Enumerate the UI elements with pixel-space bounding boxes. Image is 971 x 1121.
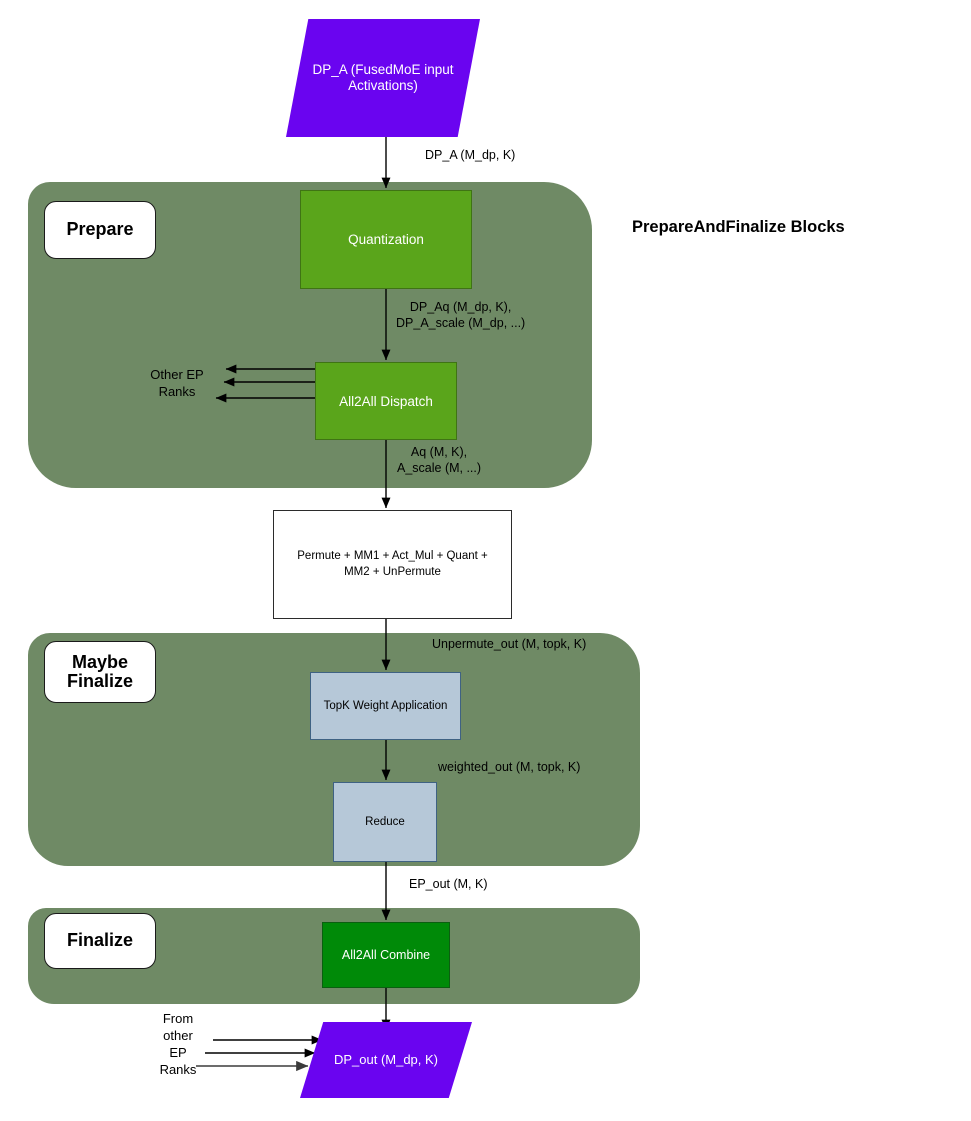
- side-label-from-other-ep-ranks: From other EP Ranks: [146, 1010, 210, 1079]
- node-expert-compute-label: Permute + MM1 + Act_Mul + Quant + MM2 + …: [297, 549, 487, 580]
- node-topk-weight-application: TopK Weight Application: [310, 672, 461, 740]
- node-quantization-label: Quantization: [348, 232, 424, 247]
- output-parallelogram-dp-out: DP_out (M_dp, K): [300, 1022, 472, 1098]
- group-tag-prepare: Prepare: [44, 201, 156, 259]
- node-all2all-combine-label: All2All Combine: [342, 948, 430, 962]
- edge-label-weighted-out: weighted_out (M, topk, K): [438, 759, 580, 775]
- diagram-canvas: DP_A (FusedMoE input Activations) Prepar…: [0, 0, 971, 1121]
- input-parallelogram-dp-a: DP_A (FusedMoE input Activations): [286, 19, 480, 137]
- group-tag-maybe-finalize: Maybe Finalize: [44, 641, 156, 703]
- node-all2all-combine: All2All Combine: [322, 922, 450, 988]
- group-tag-finalize: Finalize: [44, 913, 156, 969]
- group-tag-maybe-finalize-label: Maybe Finalize: [67, 653, 133, 692]
- node-topk-weight-application-label: TopK Weight Application: [324, 700, 448, 712]
- edge-label-unpermute-out: Unpermute_out (M, topk, K): [432, 636, 586, 652]
- edge-label-ep-out: EP_out (M, K): [409, 876, 488, 892]
- group-tag-finalize-label: Finalize: [67, 931, 133, 950]
- edge-label-dp-aq: DP_Aq (M_dp, K), DP_A_scale (M_dp, ...): [396, 299, 525, 331]
- output-label: DP_out (M_dp, K): [334, 1052, 438, 1068]
- node-all2all-dispatch-label: All2All Dispatch: [339, 394, 433, 409]
- node-expert-compute: Permute + MM1 + Act_Mul + Quant + MM2 + …: [273, 510, 512, 619]
- edge-label-dp-a: DP_A (M_dp, K): [425, 147, 515, 163]
- side-label-other-ep-ranks: Other EP Ranks: [134, 366, 220, 400]
- edge-label-aq: Aq (M, K), A_scale (M, ...): [397, 444, 481, 476]
- node-quantization: Quantization: [300, 190, 472, 289]
- node-reduce-label: Reduce: [365, 816, 405, 828]
- node-reduce: Reduce: [333, 782, 437, 862]
- group-tag-prepare-label: Prepare: [66, 220, 133, 239]
- input-label: DP_A (FusedMoE input Activations): [286, 62, 480, 95]
- diagram-title: PrepareAndFinalize Blocks: [632, 218, 845, 237]
- node-all2all-dispatch: All2All Dispatch: [315, 362, 457, 440]
